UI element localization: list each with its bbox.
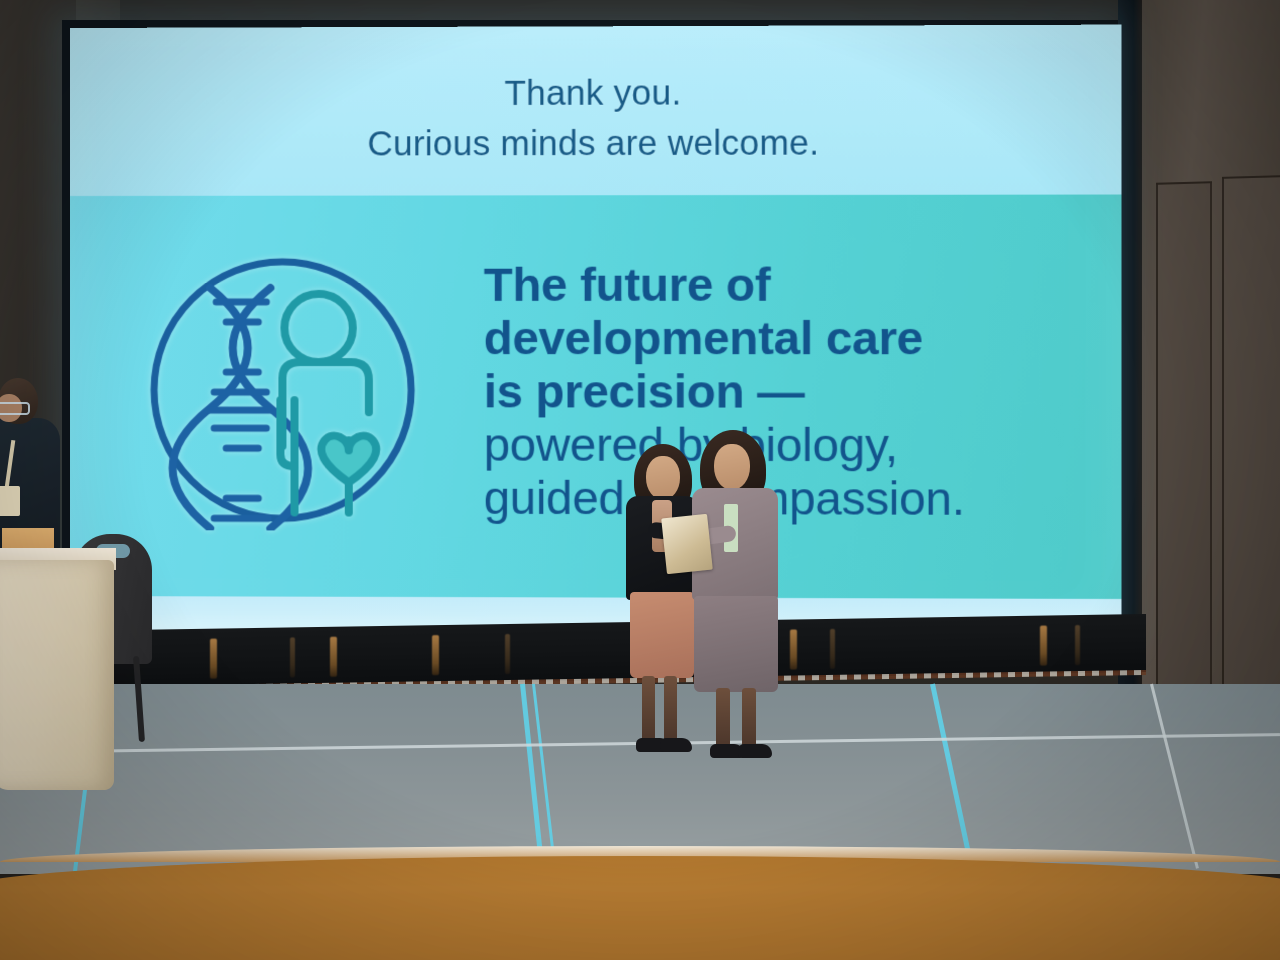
presenter-leg [742,688,756,750]
chair-leg [133,656,145,742]
skirt-light-reflection [330,637,337,677]
skirt-light-reflection [830,629,835,669]
projection-screen: Thank you. Curious minds are welcome. [70,25,1121,634]
floor-tape-line [532,684,557,873]
skirted-side-table [0,560,114,790]
recipient-skirt [630,592,694,678]
presenter-leg [716,688,730,750]
floor-tape-line [930,683,974,870]
presenter-face [714,444,750,490]
person-head [284,294,352,362]
wall-panel [1222,175,1280,767]
glasses-icon [0,402,30,415]
headline-line: The future of [484,257,1114,311]
skirt-light-reflection [432,635,439,675]
stage-presenters [600,430,820,720]
heart-icon [321,436,376,483]
skirt-light-reflection [290,637,295,677]
recipient-shoe [660,738,692,752]
headline-line: developmental care [484,311,1114,365]
recipient-leg [642,676,655,744]
skirt-light-reflection [1075,625,1080,665]
slide-header-text: Thank you. Curious minds are welcome. [70,67,1121,169]
headline-line: is precision — [484,364,1114,418]
presenter-shoe [738,744,772,758]
slide-header-line-2: Curious minds are welcome. [70,117,1121,169]
skirt-light-reflection [210,639,217,679]
badge [0,486,20,516]
wall-panel [1156,181,1212,767]
floor-tape-line [520,684,545,873]
floor-tape-line [1150,684,1199,869]
recipient-face [646,456,680,500]
slide-body-band: The future of developmental care is prec… [70,195,1121,599]
stage-front-apron [0,856,1280,960]
skirt-light-reflection [505,634,510,674]
conference-stage-photo: Thank you. Curious minds are welcome. [0,0,1280,960]
recipient-leg [664,676,677,744]
skirt-light-reflection [1040,626,1047,666]
slide-header-band: Thank you. Curious minds are welcome. [70,25,1121,196]
award-plaque [661,514,713,575]
presenter-dress-skirt [694,596,778,692]
dna-person-heart-icon [142,250,423,531]
slide-header-line-1: Thank you. [70,67,1121,120]
